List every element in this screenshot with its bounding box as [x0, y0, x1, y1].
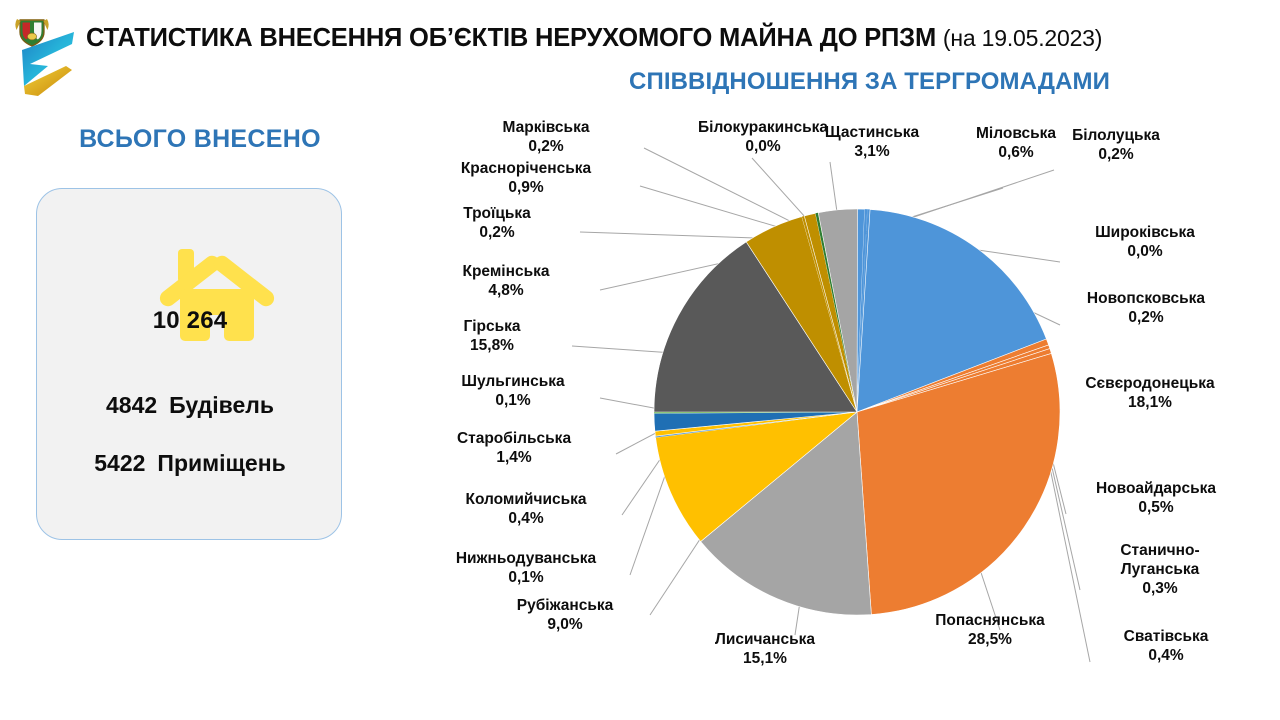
stat-row-premises: 5422Приміщень	[37, 450, 343, 477]
pie-label-popasnianska: Попаснянська 28,5%	[890, 612, 1090, 650]
pie-label-bilolutska: Білолуцька 0,2%	[1040, 127, 1192, 165]
pie-label-rubizhanska: Рубіжанська 9,0%	[474, 597, 656, 635]
pie-label-lysychanska: Лисичанська 15,1%	[675, 631, 855, 669]
pie-label-svativska: Сватівська 0,4%	[1078, 628, 1254, 666]
pie-label-kolomyichyska: Коломийчиська 0,4%	[420, 491, 632, 529]
premises-count: 5422	[94, 450, 145, 476]
pie-label-novopskovska: Новопсковська 0,2%	[1044, 290, 1248, 328]
slide-root: СТАТИСТИКА ВНЕСЕННЯ ОБ’ЄКТІВ НЕРУХОМОГО …	[0, 0, 1280, 720]
premises-label: Приміщень	[157, 450, 285, 476]
pie-label-troitska: Троїцька 0,2%	[422, 205, 572, 243]
page-title: СТАТИСТИКА ВНЕСЕННЯ ОБ’ЄКТІВ НЕРУХОМОГО …	[86, 26, 1276, 52]
pie-label-shulhynska: Шульгинська 0,1%	[418, 373, 608, 411]
pie-label-novoaidarska: Новоайдарська 0,5%	[1050, 480, 1262, 518]
pie-label-krasnorichenska: Красноріченська 0,9%	[418, 160, 634, 198]
pie-label-hirska: Гірська 15,8%	[422, 318, 562, 356]
summary-heading: ВСЬОГО ВНЕСЕНО	[20, 125, 380, 154]
pie-label-kreminska: Кремінська 4,8%	[420, 263, 592, 301]
luhansk-oblast-emblem-logo	[8, 14, 84, 98]
pie-label-stanychno-luhanska-line1: Станично-	[1068, 542, 1252, 561]
pie-label-markivska: Марківська 0,2%	[458, 119, 634, 157]
pie-chart: Марківська 0,2% Красноріченська 0,9% Тро…	[400, 110, 1280, 720]
pie-label-stanychno-luhanska: Станично- Луганська 0,3%	[1068, 542, 1252, 599]
stat-row-buildings: 4842Будівель	[37, 392, 343, 419]
page-title-main: СТАТИСТИКА ВНЕСЕННЯ ОБ’ЄКТІВ НЕРУХОМОГО …	[86, 24, 936, 52]
pie-label-shchastynska: Щастинська 3,1%	[796, 124, 948, 162]
buildings-label: Будівель	[169, 392, 274, 418]
page-subtitle: СПІВВІДНОШЕННЯ ЗА ТЕРГРОМАДАМИ	[86, 70, 1110, 94]
total-objects-value: 10 264	[37, 307, 343, 335]
pie-label-shyrokivska: Широківська 0,0%	[1052, 224, 1238, 262]
summary-card: 10 264 4842Будівель 5422Приміщень	[36, 188, 342, 540]
slide-header: СТАТИСТИКА ВНЕСЕННЯ ОБ’ЄКТІВ НЕРУХОМОГО …	[0, 0, 1280, 108]
pie-label-stanychno-luhanska-line2: Луганська	[1068, 561, 1252, 580]
pie-label-sievierodonetska: Сєвєродонецька 18,1%	[1044, 375, 1256, 413]
page-title-date: (на 19.05.2023)	[943, 25, 1102, 51]
pie-label-nyzhnoduvanska: Нижньодуванська 0,1%	[412, 550, 640, 588]
buildings-count: 4842	[106, 392, 157, 418]
pie-label-starobilska: Старобільська 1,4%	[414, 430, 614, 468]
pie-slices	[654, 209, 1060, 615]
